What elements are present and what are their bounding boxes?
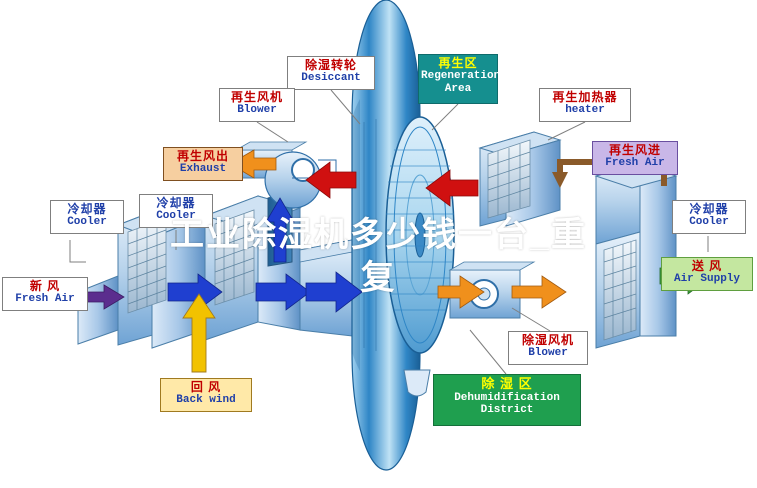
label-cn-text: 再生加热器	[542, 91, 628, 104]
label-cn-text: 除湿转轮	[290, 59, 372, 72]
label-en-text: Dehumidification District	[436, 392, 578, 417]
label-regeneration-fresh-air-in: 再生风进Fresh Air	[592, 141, 678, 175]
label-regeneration-exhaust: 再生风出Exhaust	[163, 147, 243, 181]
label-dehumidification-blower: 除湿风机Blower	[508, 331, 588, 365]
label-en-text: Exhaust	[166, 163, 240, 175]
label-cn-text: 再生风进	[595, 144, 675, 157]
label-cn-text: 再生风机	[222, 91, 292, 104]
watermark-line-2: 复	[0, 250, 757, 299]
watermark-line-1: 工业除湿机多少钱一台_重	[0, 207, 757, 256]
label-en-text: Regeneration Area	[421, 70, 495, 95]
label-en-text: Back wind	[163, 394, 249, 406]
label-desiccant-rotor: 除湿转轮Desiccant	[287, 56, 375, 90]
label-en-text: Desiccant	[290, 72, 372, 84]
label-en-text: Blower	[222, 104, 292, 116]
label-regeneration-blower: 再生风机Blower	[219, 88, 295, 122]
label-dehumidification-district: 除 湿 区Dehumidification District	[433, 374, 581, 426]
label-cn-text: 除 湿 区	[436, 377, 578, 392]
label-back-wind: 回 风Back wind	[160, 378, 252, 412]
label-en-text: Fresh Air	[595, 157, 675, 169]
label-cn-text: 除湿风机	[511, 334, 585, 347]
label-cn-text: 回 风	[163, 381, 249, 394]
label-en-text: heater	[542, 104, 628, 116]
label-regeneration-area: 再生区Regeneration Area	[418, 54, 498, 104]
diagram-canvas: 除湿转轮Desiccant再生风机Blower再生区Regeneration A…	[0, 0, 757, 488]
label-en-text: Blower	[511, 347, 585, 359]
label-cn-text: 再生风出	[166, 150, 240, 163]
label-regeneration-heater: 再生加热器heater	[539, 88, 631, 122]
label-cn-text: 再生区	[421, 57, 495, 70]
